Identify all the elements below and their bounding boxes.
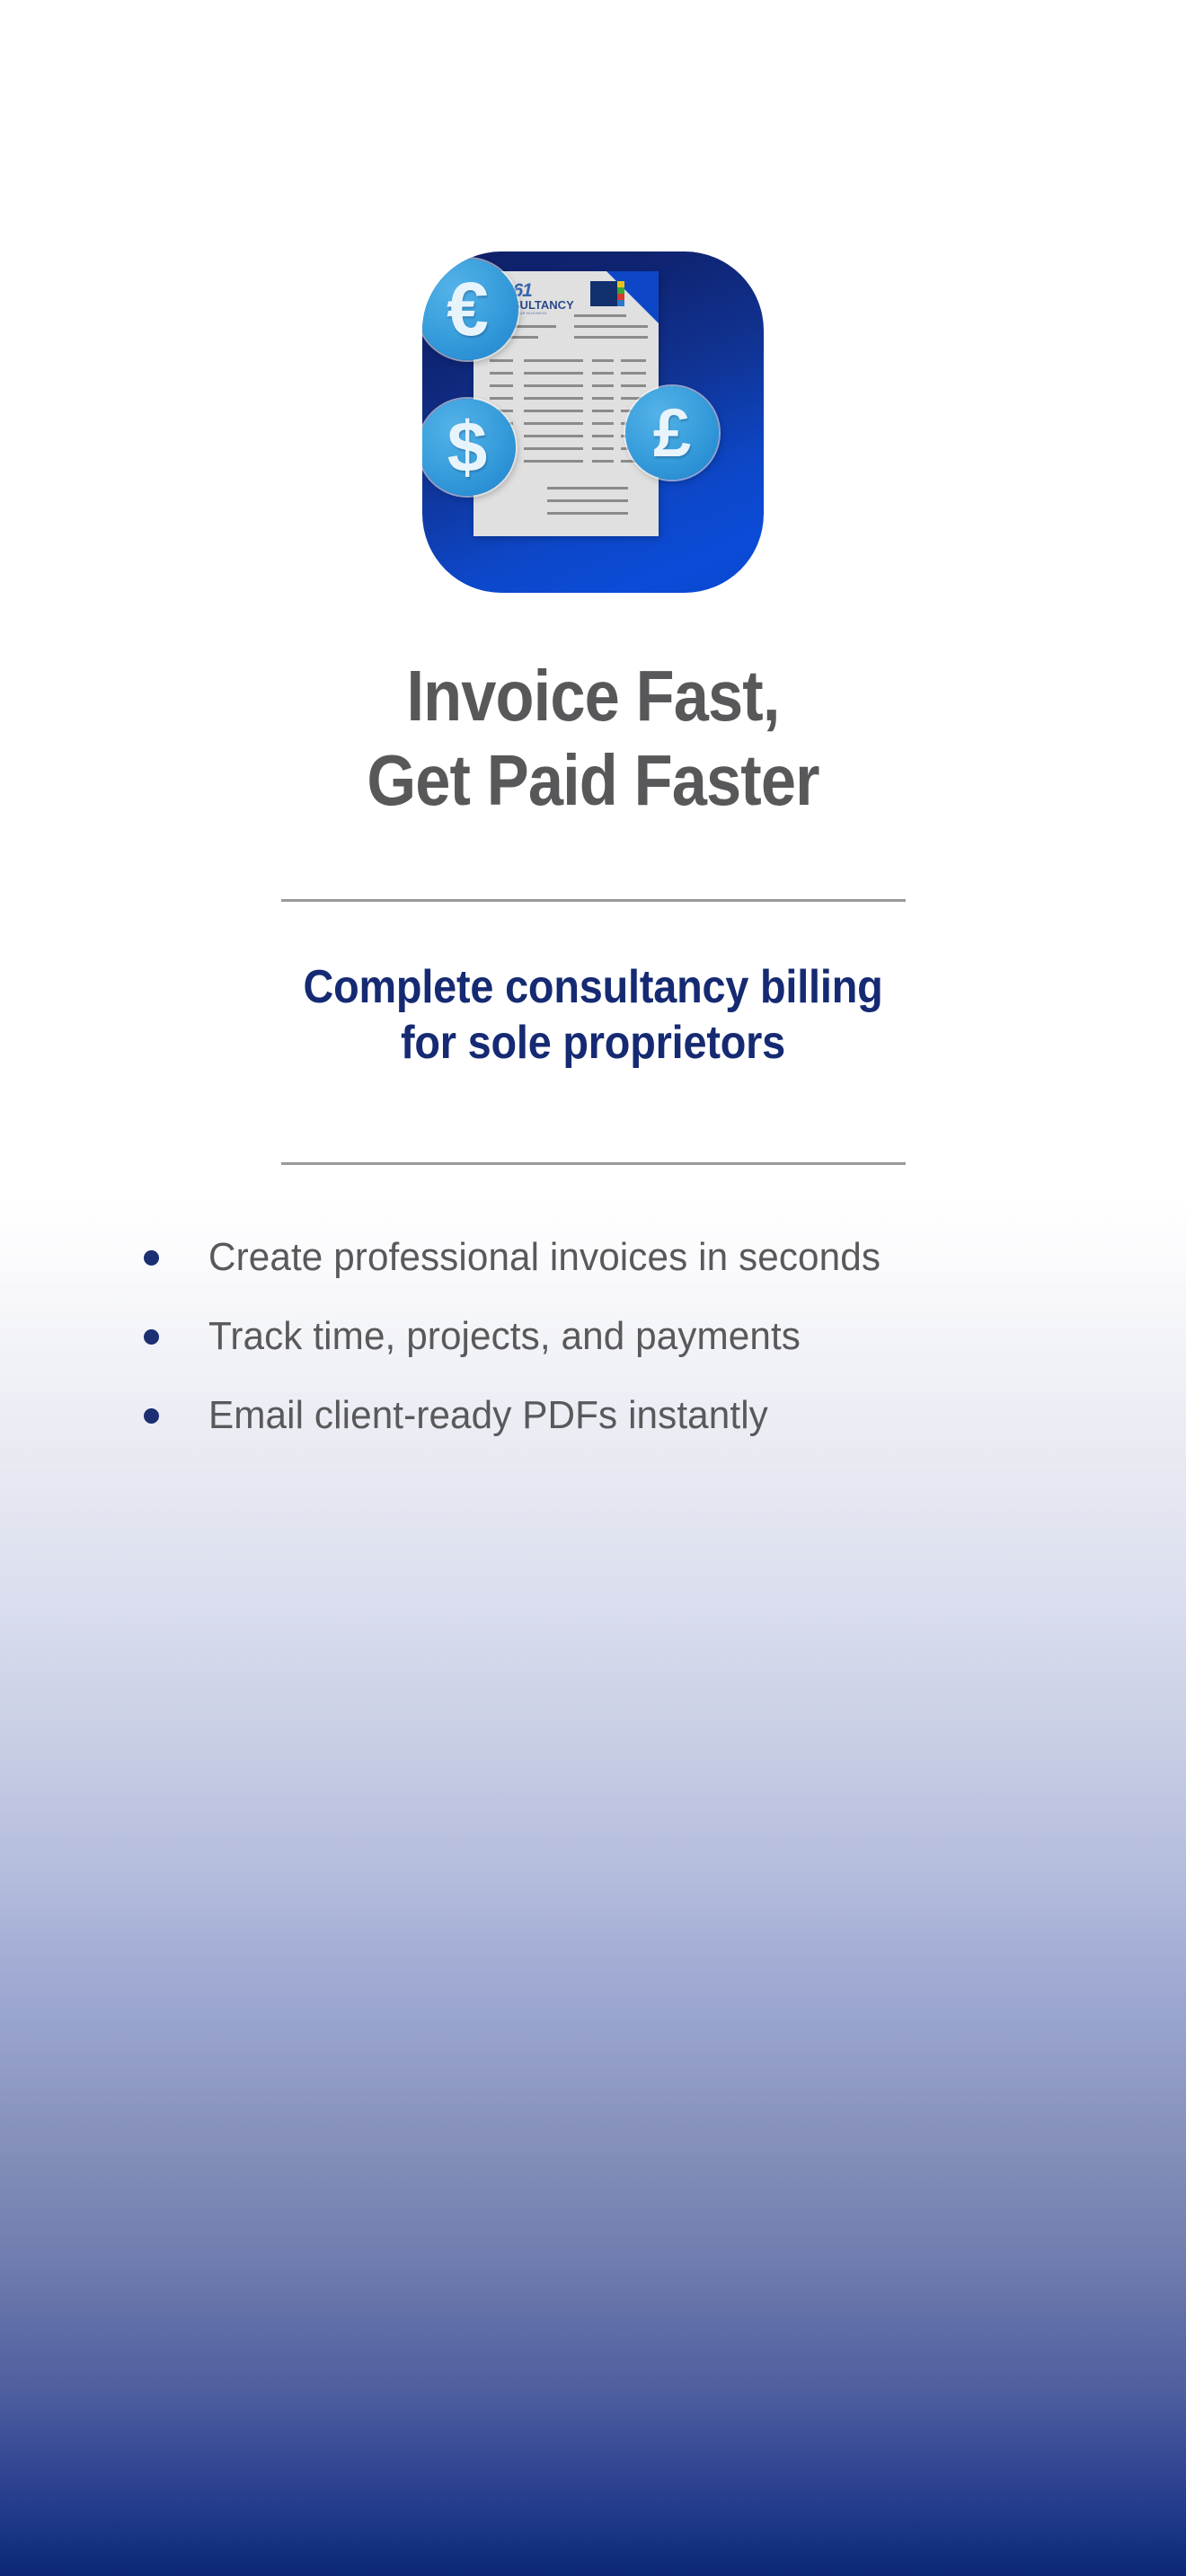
- doc-rule: [574, 325, 648, 328]
- doc-rule: [592, 422, 614, 425]
- feature-list: Create professional invoices in seconds …: [0, 1218, 1186, 1455]
- doc-rule: [547, 512, 628, 515]
- bullet-dot-icon: [144, 1408, 159, 1424]
- doc-rule: [524, 397, 583, 400]
- pound-coin: £: [625, 386, 719, 480]
- doc-rule: [592, 397, 614, 400]
- doc-rule: [524, 435, 583, 437]
- doc-rule: [574, 336, 648, 339]
- feature-label: Track time, projects, and payments: [208, 1317, 801, 1356]
- doc-rule: [490, 372, 513, 375]
- list-item: Create professional invoices in seconds: [0, 1218, 1186, 1297]
- divider-top: [281, 899, 906, 902]
- doc-rule: [524, 460, 583, 463]
- list-item: Email client-ready PDFs instantly: [0, 1376, 1186, 1455]
- doc-rule: [547, 499, 628, 502]
- app-icon-tile: MS61 CONSULTANCY WHERE RULES OUR BUSINES…: [422, 251, 764, 593]
- doc-rule: [592, 435, 614, 437]
- doc-rule: [524, 447, 583, 450]
- doc-rule: [592, 460, 614, 463]
- subtitle-line-2: for sole proprietors: [59, 1015, 1127, 1071]
- doc-rule: [621, 384, 646, 387]
- doc-rule: [490, 384, 513, 387]
- doc-rule: [524, 372, 583, 375]
- doc-rule: [621, 372, 646, 375]
- doc-rule: [574, 314, 626, 317]
- swatch-bars: [617, 281, 624, 306]
- promo-page: MS61 CONSULTANCY WHERE RULES OUR BUSINES…: [0, 0, 1186, 2576]
- bullet-dot-icon: [144, 1250, 159, 1266]
- doc-rule: [592, 447, 614, 450]
- doc-rule: [592, 359, 614, 362]
- doc-rule: [547, 487, 628, 490]
- page-title: Invoice Fast, Get Paid Faster: [71, 654, 1115, 823]
- feature-label: Create professional invoices in seconds: [208, 1238, 881, 1277]
- divider-bottom: [281, 1162, 906, 1165]
- app-icon[interactable]: MS61 CONSULTANCY WHERE RULES OUR BUSINES…: [422, 251, 764, 593]
- page-subtitle: Complete consultancy billing for sole pr…: [59, 959, 1127, 1071]
- list-item: Track time, projects, and payments: [0, 1297, 1186, 1376]
- subtitle-line-1: Complete consultancy billing: [59, 959, 1127, 1015]
- feature-label: Email client-ready PDFs instantly: [208, 1396, 768, 1435]
- doc-rule: [592, 384, 614, 387]
- doc-rule: [592, 372, 614, 375]
- doc-rule: [524, 384, 583, 387]
- doc-rule: [524, 410, 583, 412]
- headline-line-1: Invoice Fast,: [71, 654, 1115, 738]
- headline-line-2: Get Paid Faster: [71, 738, 1115, 823]
- letterhead-color-swatch: [590, 281, 624, 306]
- doc-rule: [490, 397, 513, 400]
- doc-rule: [621, 359, 646, 362]
- doc-rule: [524, 422, 583, 425]
- doc-rule: [524, 359, 583, 362]
- swatch-block: [590, 281, 617, 306]
- doc-rule: [592, 410, 614, 412]
- dollar-coin: $: [422, 399, 516, 496]
- bullet-dot-icon: [144, 1329, 159, 1345]
- doc-rule: [490, 359, 513, 362]
